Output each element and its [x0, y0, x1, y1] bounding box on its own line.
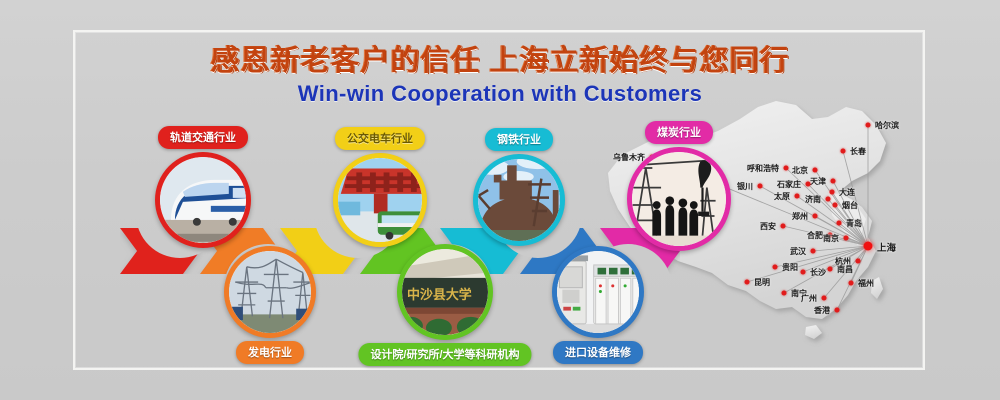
city-label: 石家庄 — [777, 179, 801, 190]
industry-node-5[interactable]: 钢铁行业 — [473, 154, 565, 246]
industry-photo-ring[interactable] — [627, 147, 731, 251]
industry-label-pill[interactable]: 进口设备维修 — [553, 341, 643, 364]
city-label: 烟台 — [842, 200, 858, 211]
city-label: 长春 — [850, 146, 866, 157]
city-label: 青岛 — [846, 218, 862, 229]
industry-photo-ring[interactable] — [552, 246, 644, 338]
city-label: 天津 — [810, 176, 826, 187]
city-label: 北京 — [792, 165, 808, 176]
city-dot-icon — [781, 224, 786, 229]
industry-photo-ring[interactable] — [473, 154, 565, 246]
city-dot-icon — [745, 280, 750, 285]
industry-node-1[interactable]: 轨道交通行业 — [155, 152, 251, 248]
industry-node-2[interactable]: 发电行业 — [224, 246, 316, 338]
industry-label-pill[interactable]: 发电行业 — [236, 341, 304, 364]
city-label: 南京 — [823, 233, 839, 244]
svg-text:中沙县大学: 中沙县大学 — [407, 287, 472, 303]
industry-label-pill[interactable]: 煤炭行业 — [645, 121, 713, 144]
city-label: 郑州 — [792, 211, 808, 222]
title-block: 感恩新老客户的信任 上海立新始终与您同行 Win-win Cooperation… — [0, 44, 1000, 107]
city-dot-icon — [758, 184, 763, 189]
city-label: 济南 — [805, 194, 821, 205]
banner-stage: 哈尔滨长春大连烟台青岛北京天津呼和浩特石家庄济南太原银川乌鲁木齐郑州西安合肥南京… — [0, 0, 1000, 400]
industry-photo-ring[interactable] — [155, 152, 251, 248]
city-dot-icon — [830, 190, 835, 195]
blast-furnace-steel-mill-image — [478, 159, 560, 241]
page-subtitle: Win-win Cooperation with Customers — [0, 81, 1000, 107]
city-label: 贵阳 — [782, 262, 798, 273]
city-dot-icon — [801, 270, 806, 275]
city-dot-icon — [773, 265, 778, 270]
city-dot-icon — [795, 194, 800, 199]
city-label: 哈尔滨 — [875, 120, 899, 131]
city-label: 大连 — [839, 187, 855, 198]
industry-label-pill[interactable]: 设计院/研究所/大学等科研机构 — [358, 343, 531, 366]
city-dot-icon — [849, 281, 854, 286]
city-dot-icon — [856, 259, 861, 264]
industry-photo-ring[interactable] — [224, 246, 316, 338]
city-dot-icon — [844, 236, 849, 241]
city-bus-expo-pavilion-image — [338, 158, 422, 242]
industry-node-6[interactable]: 进口设备维修 — [552, 246, 644, 338]
high-speed-train-image — [160, 157, 246, 243]
university-signboard-image: 中沙县大学 — [402, 249, 488, 335]
industry-photo-ring[interactable] — [333, 153, 427, 247]
industry-label-pill[interactable]: 钢铁行业 — [485, 128, 553, 151]
city-label: 广州 — [801, 293, 817, 304]
city-label: 香港 — [814, 305, 830, 316]
city-dot-icon — [837, 221, 842, 226]
city-dot-icon — [822, 296, 827, 301]
industry-node-7[interactable]: 煤炭行业 — [627, 147, 731, 251]
city-dot-icon — [833, 203, 838, 208]
city-label: 太原 — [774, 191, 790, 202]
city-label: 昆明 — [754, 277, 770, 288]
city-dot-icon — [782, 291, 787, 296]
city-label: 西安 — [760, 221, 776, 232]
city-dot-icon — [841, 149, 846, 154]
city-label: 南昌 — [837, 264, 853, 275]
city-label: 呼和浩特 — [747, 163, 779, 174]
city-dot-icon — [826, 197, 831, 202]
city-dot-icon — [806, 182, 811, 187]
industry-photo-ring[interactable]: 中沙县大学 — [397, 244, 493, 340]
industry-node-4[interactable]: 中沙县大学 设计院/研究所/大学等科研机构 — [397, 244, 493, 340]
coal-mining-derrick-workers-image — [632, 152, 726, 246]
city-dot-icon — [831, 179, 836, 184]
city-label: 银川 — [737, 181, 753, 192]
city-label: 上海 — [877, 240, 896, 254]
city-dot-icon — [835, 308, 840, 313]
industry-label-pill[interactable]: 轨道交通行业 — [158, 126, 248, 149]
city-dot-icon — [866, 123, 871, 128]
city-label: 长沙 — [810, 267, 826, 278]
industry-node-3[interactable]: 公交电车行业 — [333, 153, 427, 247]
city-dot-icon — [813, 168, 818, 173]
city-label: 武汉 — [790, 246, 806, 257]
city-dot-icon — [828, 267, 833, 272]
power-transmission-towers-image — [229, 251, 311, 333]
industry-label-pill[interactable]: 公交电车行业 — [335, 127, 425, 150]
page-title: 感恩新老客户的信任 上海立新始终与您同行 — [0, 44, 1000, 78]
city-dot-icon — [813, 214, 818, 219]
city-dot-icon — [864, 242, 873, 251]
electrical-switchgear-cabinets-image — [557, 251, 639, 333]
city-dot-icon — [784, 166, 789, 171]
city-dot-icon — [811, 249, 816, 254]
city-label: 福州 — [858, 278, 874, 289]
city-label: 合肥 — [807, 230, 823, 241]
